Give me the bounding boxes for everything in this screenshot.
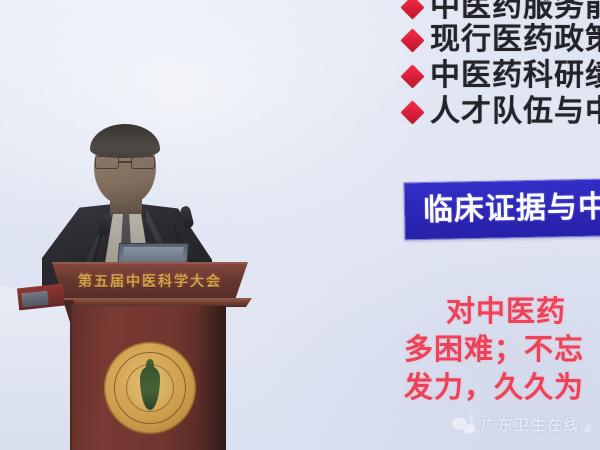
red-diamond-bullet-icon bbox=[400, 28, 424, 52]
red-diamond-bullet-icon bbox=[400, 64, 424, 88]
slide-red-line: 发力，久久为 bbox=[404, 368, 600, 406]
slide-blue-banner: 临床证据与中 bbox=[403, 178, 600, 241]
slide-bullet-item: 中医药科研绩 bbox=[404, 58, 600, 94]
red-diamond-bullet-icon bbox=[400, 0, 424, 19]
conference-photo: 中医药服务能 现行医药政策 中医药科研绩 人才队伍与中 临床证据与中 对中医药 … bbox=[0, 0, 600, 450]
slide-red-line: 对中医药 bbox=[404, 292, 600, 330]
stage-white-panel bbox=[0, 286, 70, 450]
slide-red-paragraph: 对中医药 多困难；不忘 发力，久久为 bbox=[404, 292, 600, 406]
slide-blue-banner-text: 临床证据与中 bbox=[423, 192, 600, 226]
slide-bullet-text: 现行医药政策 bbox=[430, 25, 600, 55]
slide-bullet-list: 中医药服务能 现行医药政策 中医药科研绩 人才队伍与中 bbox=[404, 0, 600, 130]
wechat-bubble-small bbox=[463, 424, 474, 434]
slide-bullet-text: 人才队伍与中 bbox=[430, 97, 600, 127]
glasses-lens-right bbox=[131, 156, 155, 169]
slide-bullet-item: 人才队伍与中 bbox=[404, 94, 600, 130]
slide-red-line: 多困难；不忘 bbox=[404, 330, 600, 368]
watermark: 广东卫生在线 bbox=[452, 414, 580, 435]
slide-bullet-item: 现行医药政策 bbox=[404, 22, 600, 58]
speaker-glasses-icon bbox=[95, 156, 155, 169]
glasses-lens-left bbox=[95, 156, 119, 169]
slide-bullet-item: 中医药服务能 bbox=[404, 0, 600, 22]
wechat-icon bbox=[452, 416, 474, 434]
speaker-hair bbox=[90, 124, 160, 158]
podium-grey-corner bbox=[21, 291, 48, 308]
watermark-text: 广东卫生在线 bbox=[481, 414, 580, 435]
podium-column-shadow bbox=[198, 306, 226, 450]
podium-sign-text: 第五届中医科学大会 bbox=[78, 275, 222, 289]
podium-sign: 第五届中医科学大会 bbox=[52, 268, 248, 296]
red-diamond-bullet-icon bbox=[400, 100, 424, 124]
stage-area: 第五届中医科学大会 bbox=[0, 0, 260, 450]
glasses-bridge bbox=[119, 161, 131, 163]
slide-bullet-text: 中医药服务能 bbox=[430, 0, 600, 22]
slide-bullet-text: 中医药科研绩 bbox=[430, 61, 600, 91]
